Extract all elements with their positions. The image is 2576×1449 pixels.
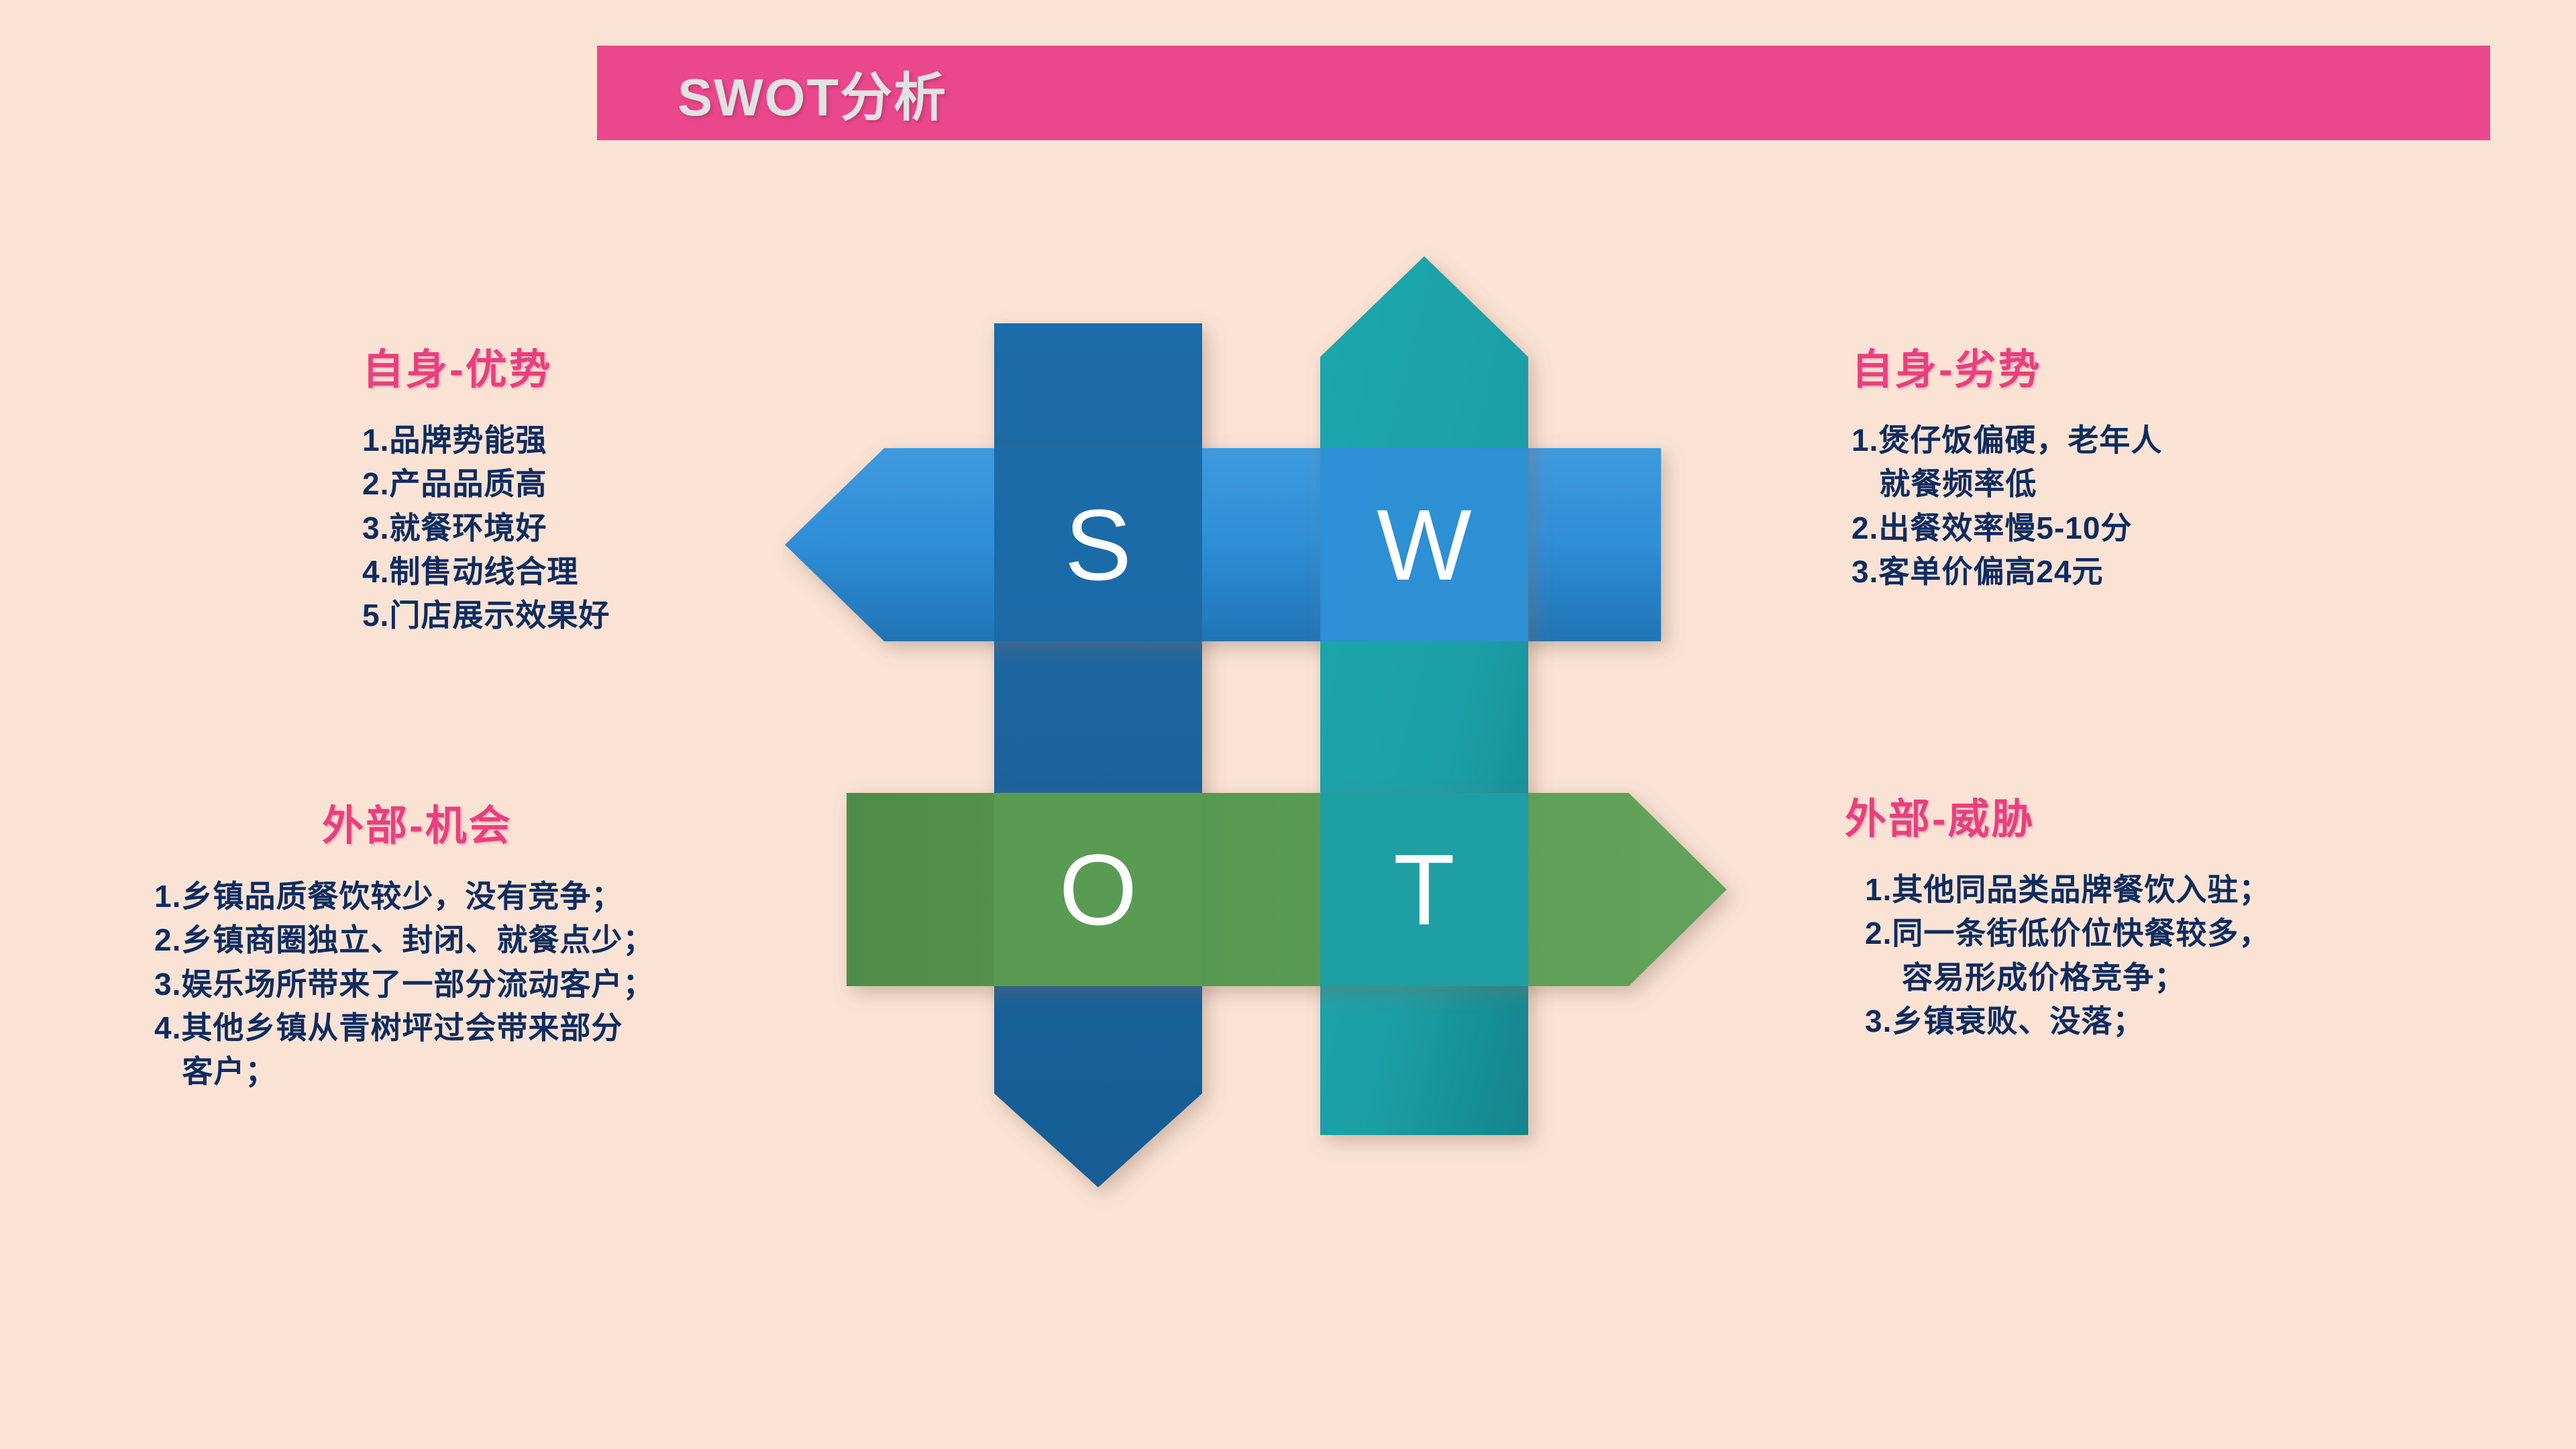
list-item: 2.出餐效率慢5-10分: [1851, 506, 2455, 550]
list-item: 3.客单价偏高24元: [1851, 550, 2455, 594]
opportunities-heading: 外部-机会: [322, 792, 865, 852]
list-item: 1.乡镇品质餐饮较少，没有竞争；: [154, 875, 865, 918]
list-item: 4.其他乡镇从青树坪过会带来部分 客户；: [154, 1006, 865, 1094]
list-item: 3.乡镇衰败、没落；: [1865, 1000, 2449, 1043]
list-item: 2.乡镇商圈独立、封闭、就餐点少；: [154, 918, 865, 962]
quadrant-threats: 外部-威胁 1.其他同品类品牌餐饮入驻； 2.同一条街低价位快餐较多， 容易形成…: [1845, 785, 2449, 1043]
strengths-list: 1.品牌势能强 2.产品品质高 3.就餐环境好 4.制售动线合理 5.门店展示效…: [335, 419, 805, 638]
arrow-threats: [1320, 256, 1528, 1135]
arrow-weaknesses: [785, 448, 1661, 641]
list-item: 1.其他同品类品牌餐饮入驻；: [1865, 868, 2449, 912]
list-item: 1.煲仔饭偏硬，老年人 就餐频率低: [1851, 419, 2455, 506]
slide-canvas: SWOT分析: [0, 0, 2576, 1449]
opportunities-list: 1.乡镇品质餐饮较少，没有竞争； 2.乡镇商圈独立、封闭、就餐点少； 3.娱乐场…: [154, 875, 865, 1094]
weaknesses-heading: 自身-劣势: [1851, 335, 2455, 396]
list-item: 5.门店展示效果好: [362, 594, 805, 637]
threats-heading: 外部-威胁: [1845, 785, 2449, 845]
list-item: 4.制售动线合理: [362, 550, 805, 594]
list-item: 2.同一条街低价位快餐较多， 容易形成价格竞争；: [1865, 912, 2449, 1000]
swot-arrow-diagram: S W O T: [771, 235, 1758, 1221]
weaknesses-list: 1.煲仔饭偏硬，老年人 就餐频率低 2.出餐效率慢5-10分 3.客单价偏高24…: [1851, 419, 2455, 594]
title-bar: SWOT分析: [597, 46, 2490, 140]
list-item: 1.品牌势能强: [362, 419, 805, 462]
arrow-opportunities: [847, 793, 1727, 986]
list-item: 2.产品品质高: [362, 462, 805, 506]
arrow-letter-o: O: [1059, 833, 1138, 946]
arrow-letter-s: S: [1065, 488, 1132, 601]
quadrant-weaknesses: 自身-劣势 1.煲仔饭偏硬，老年人 就餐频率低 2.出餐效率慢5-10分 3.客…: [1851, 335, 2455, 594]
arrow-letter-t: T: [1393, 833, 1455, 946]
list-item: 3.就餐环境好: [362, 506, 805, 550]
list-item: 3.娱乐场所带来了一部分流动客户；: [154, 963, 865, 1006]
page-title: SWOT分析: [678, 56, 947, 131]
arrow-letter-w: W: [1377, 488, 1472, 601]
threats-list: 1.其他同品类品牌餐饮入驻； 2.同一条街低价位快餐较多， 容易形成价格竞争； …: [1845, 868, 2449, 1043]
quadrant-strengths: 自身-优势 1.品牌势能强 2.产品品质高 3.就餐环境好 4.制售动线合理 5…: [335, 335, 805, 638]
strengths-heading: 自身-优势: [362, 335, 805, 396]
quadrant-opportunities: 外部-机会 1.乡镇品质餐饮较少，没有竞争； 2.乡镇商圈独立、封闭、就餐点少；…: [154, 792, 865, 1094]
